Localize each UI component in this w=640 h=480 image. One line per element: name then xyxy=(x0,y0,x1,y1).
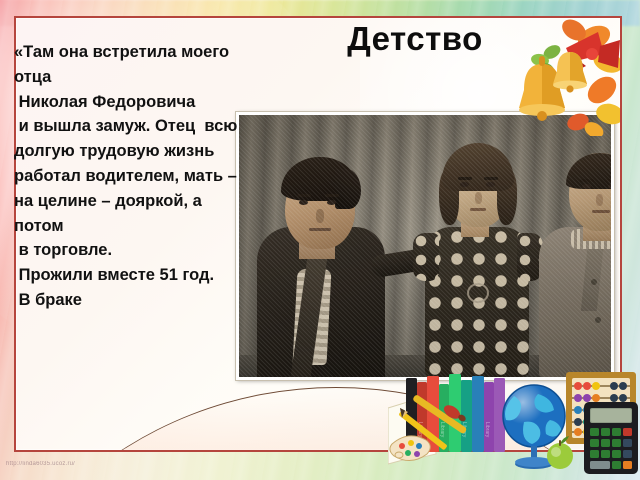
photo-content xyxy=(239,115,611,377)
school-bells-icon xyxy=(508,18,620,136)
svg-text:Library: Library xyxy=(439,422,445,438)
photo-grain xyxy=(239,115,611,377)
supplies-svg: Library Library Library Library xyxy=(388,360,640,476)
school-supplies-icon: Library Library Library Library xyxy=(388,360,640,476)
family-photograph xyxy=(236,112,614,380)
slide-title: Детство xyxy=(300,22,530,55)
source-watermark: http://linda6035.ucoz.ru/ xyxy=(6,461,75,467)
presentation-slide: Детство «Там она встретила моего отца Ни… xyxy=(0,0,640,480)
svg-text:Library: Library xyxy=(484,422,490,438)
slide-body-text: «Там она встретила моего отца Николая Фе… xyxy=(14,40,246,313)
calculator-icon xyxy=(584,402,638,474)
bells-svg xyxy=(508,18,620,136)
